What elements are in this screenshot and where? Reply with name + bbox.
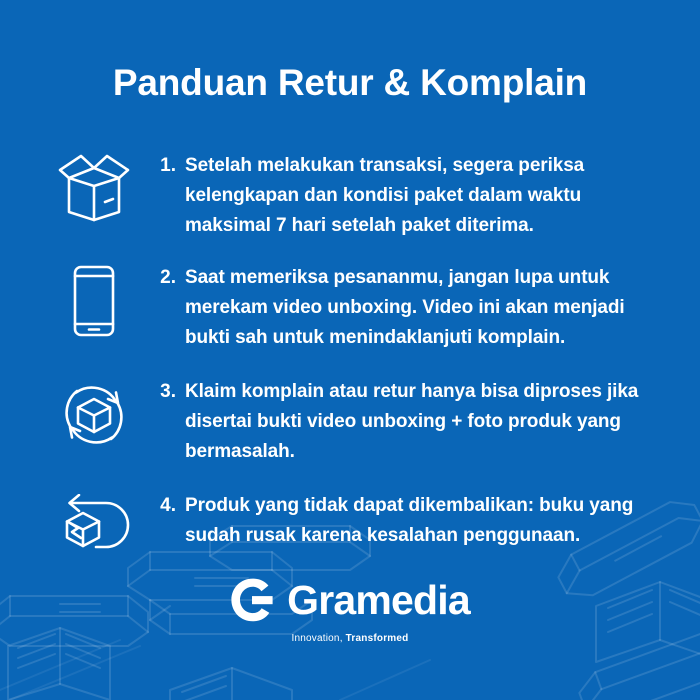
tagline-bold: Transformed <box>346 633 409 644</box>
list-item: 1. Setelah melakukan transaksi, segera p… <box>44 143 664 241</box>
step-number: 2. <box>144 255 176 293</box>
logo-row: Gramedia <box>230 578 470 622</box>
list-item: 2. Saat memeriksa pesananmu, jangan lupa… <box>44 255 664 353</box>
step-text: Klaim komplain atau retur hanya bisa dip… <box>176 369 664 467</box>
step-text: Setelah melakukan transaksi, segera peri… <box>176 143 664 241</box>
list-item: 4. Produk yang tidak dapat dikembalikan:… <box>44 483 664 575</box>
gramedia-g-icon <box>230 578 274 622</box>
step-number: 4. <box>144 483 176 521</box>
broken-cube-return-icon <box>44 483 144 575</box>
list-item: 3. Klaim komplain atau retur hanya bisa … <box>44 369 664 467</box>
steps-list: 1. Setelah melakukan transaksi, segera p… <box>44 143 664 575</box>
page-title: Panduan Retur & Komplain <box>0 62 700 105</box>
step-text: Saat memeriksa pesananmu, jangan lupa un… <box>176 255 664 353</box>
logo-tagline: Innovation, Transformed <box>0 634 700 644</box>
step-text: Produk yang tidak dapat dikembalikan: bu… <box>176 483 664 551</box>
brand-logo: Gramedia Innovation, Transformed <box>0 578 700 644</box>
open-box-icon <box>44 143 144 231</box>
tagline-light: Innovation, <box>292 633 343 644</box>
step-number: 3. <box>144 369 176 407</box>
return-cube-refresh-icon <box>44 369 144 461</box>
logo-wordmark: Gramedia <box>287 580 470 621</box>
step-number: 1. <box>144 143 176 181</box>
poster-canvas: Panduan Retur & Komplain <box>0 0 700 700</box>
smartphone-icon <box>44 255 144 347</box>
